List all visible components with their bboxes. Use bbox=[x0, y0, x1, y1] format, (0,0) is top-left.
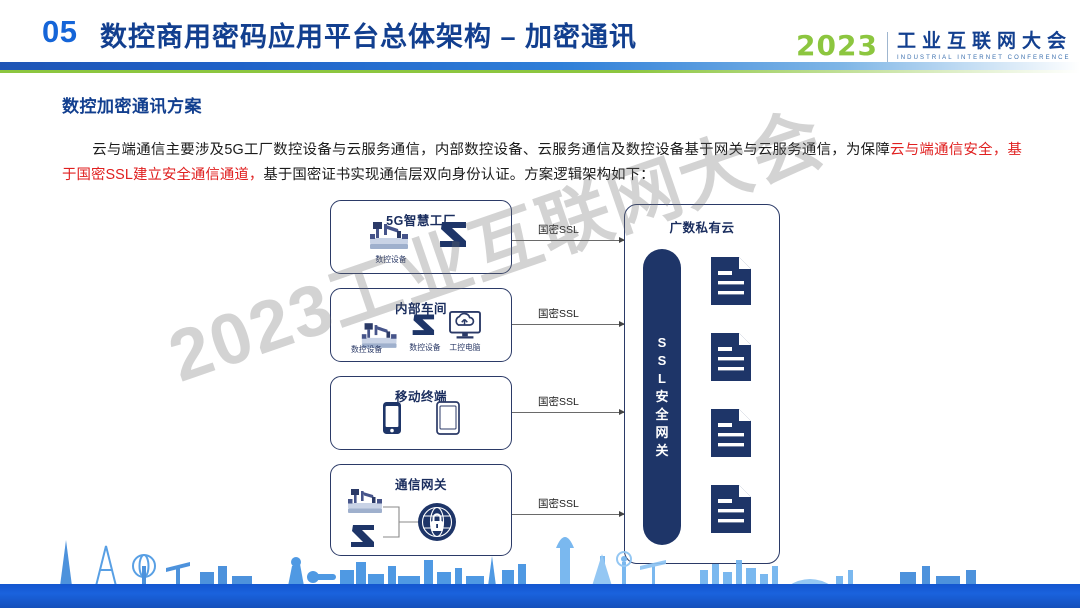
smartphone-icon bbox=[382, 401, 402, 435]
document-icon bbox=[709, 407, 753, 459]
link-line-4 bbox=[512, 514, 624, 515]
node-private-cloud[interactable]: 广数私有云 SSL安全网关 bbox=[624, 204, 780, 564]
link-line-3 bbox=[512, 412, 624, 413]
icon-caption: 工控电脑 bbox=[449, 342, 480, 353]
ssl-security-gateway[interactable]: SSL安全网关 bbox=[643, 249, 681, 545]
icon-cell: 数控设备 bbox=[408, 312, 442, 353]
node-5g-smart-factory[interactable]: 5G智慧工厂 数控设备 bbox=[330, 200, 512, 274]
ssl-gateway-label: SSL安全网关 bbox=[654, 334, 670, 460]
section-title: 数控加密通讯方案 bbox=[62, 92, 202, 117]
document-icon bbox=[709, 483, 753, 535]
document-list bbox=[709, 255, 753, 535]
page-title: 数控商用密码应用平台总体架构 – 加密通讯 bbox=[100, 15, 637, 54]
logo-name-cn: 工业互联网大会 bbox=[897, 32, 1072, 52]
robot-arm-icon bbox=[408, 312, 442, 340]
robot-arm-icon bbox=[351, 525, 374, 547]
document-icon bbox=[709, 331, 753, 383]
link-label-4: 国密SSL bbox=[538, 496, 579, 511]
footer-bar bbox=[0, 584, 1080, 608]
node-internal-workshop[interactable]: 内部车间 bbox=[330, 288, 512, 362]
link-label-3: 国密SSL bbox=[538, 394, 579, 409]
robot-arm-icon bbox=[436, 219, 474, 253]
gateway-internal-graphic bbox=[333, 485, 511, 555]
header-divider-green bbox=[0, 70, 1080, 73]
industrial-pc-icon bbox=[448, 310, 482, 340]
node-communication-gateway[interactable]: 通信网关 bbox=[330, 464, 512, 556]
icon-caption-cnc: 数控设备 bbox=[351, 344, 382, 355]
paragraph-part-2: 基于国密证书实现通信层双向身份认证。方案逻辑架构如下： bbox=[263, 167, 654, 183]
slide-root: 05 数控商用密码应用平台总体架构 – 加密通讯 2023 中国·苏州 8月14… bbox=[0, 0, 1080, 608]
cnc-machine-icon bbox=[348, 489, 382, 513]
node-icon-row bbox=[331, 401, 511, 437]
link-label-1: 国密SSL bbox=[538, 222, 579, 237]
node-icon-row: 数控设备 bbox=[331, 219, 511, 265]
link-label-2: 国密SSL bbox=[538, 306, 579, 321]
link-line-2 bbox=[512, 324, 624, 325]
section-number: 05 bbox=[42, 14, 77, 50]
icon-caption: 数控设备 bbox=[409, 342, 440, 353]
architecture-diagram: 5G智慧工厂 数控设备 bbox=[330, 196, 790, 576]
secure-gateway-lock-icon bbox=[418, 503, 456, 541]
icon-cell bbox=[436, 219, 474, 265]
header-divider-blue bbox=[0, 62, 1080, 70]
icon-cell bbox=[436, 401, 460, 437]
icon-cell bbox=[382, 401, 402, 437]
cloud-title: 广数私有云 bbox=[625, 217, 779, 236]
paragraph-part-1: 云与端通信主要涉及5G工厂数控设备与云服务通信，内部数控设备、云服务通信及数控设… bbox=[92, 142, 890, 158]
tablet-icon bbox=[436, 401, 460, 435]
node-mobile-terminal[interactable]: 移动终端 bbox=[330, 376, 512, 450]
icon-caption: 数控设备 bbox=[375, 254, 406, 265]
cnc-machine-icon bbox=[368, 220, 414, 252]
link-line-1 bbox=[512, 240, 624, 241]
slide-header: 05 数控商用密码应用平台总体架构 – 加密通讯 2023 中国·苏州 8月14… bbox=[0, 0, 1080, 62]
logo-name-en: INDUSTRIAL INTERNET CONFERENCE bbox=[897, 55, 1072, 61]
document-icon bbox=[709, 255, 753, 307]
icon-cell: 数控设备 bbox=[368, 220, 414, 265]
icon-cell: 工控电脑 bbox=[448, 310, 482, 353]
logo-year: 2023 bbox=[796, 32, 878, 60]
body-paragraph: 云与端通信主要涉及5G工厂数控设备与云服务通信，内部数控设备、云服务通信及数控设… bbox=[62, 138, 1022, 188]
